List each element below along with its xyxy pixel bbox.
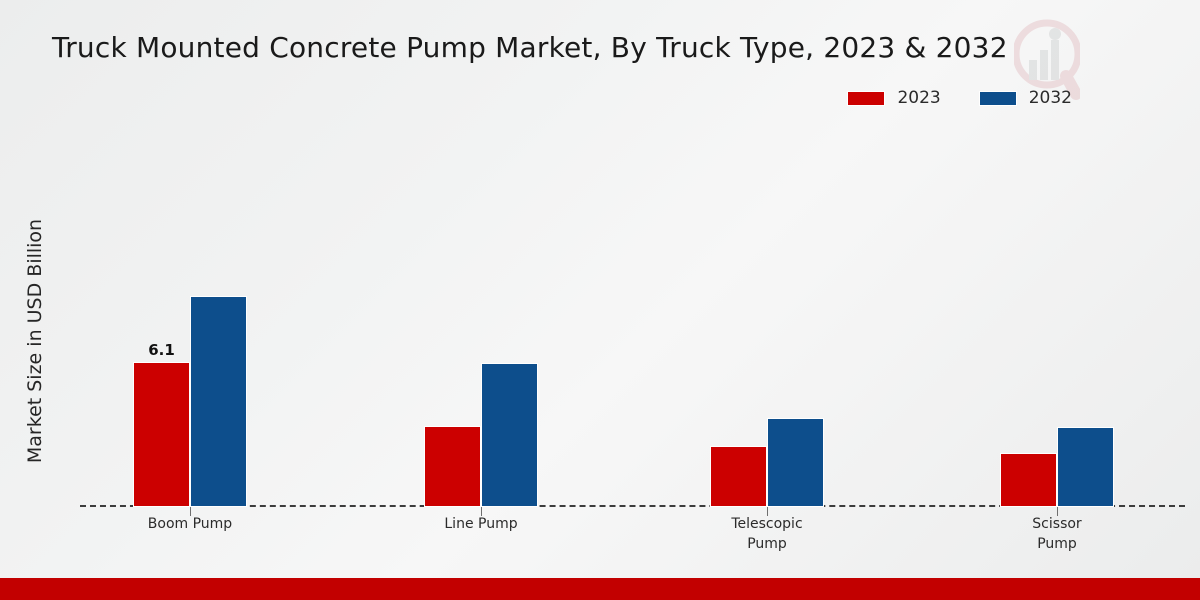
bar-group-telescopic-pump: Telescopic Pump bbox=[710, 140, 824, 507]
bar-2023-scissor-pump[interactable] bbox=[1000, 453, 1057, 507]
chart-legend: 2023 2032 bbox=[847, 88, 1072, 108]
legend-label-2032: 2032 bbox=[1029, 88, 1072, 108]
bar-2023-telescopic-pump[interactable] bbox=[710, 446, 767, 507]
bar-group-bars bbox=[710, 140, 824, 507]
legend-item-2032[interactable]: 2032 bbox=[979, 88, 1072, 108]
bar-group-boom-pump: 6.1 Boom Pump bbox=[133, 140, 247, 507]
bar-2032-scissor-pump[interactable] bbox=[1057, 427, 1114, 507]
bar-group-bars bbox=[1000, 140, 1114, 507]
x-axis-label-line: Scissor bbox=[962, 514, 1152, 534]
bar-2032-line-pump[interactable] bbox=[481, 363, 538, 507]
bar-2032-boom-pump[interactable] bbox=[190, 296, 247, 507]
page-title: Truck Mounted Concrete Pump Market, By T… bbox=[52, 31, 1008, 64]
bar-group-scissor-pump: Scissor Pump bbox=[1000, 140, 1114, 507]
x-axis-label-boom-pump: Boom Pump bbox=[95, 514, 285, 534]
x-axis-label-line: Telescopic bbox=[672, 514, 862, 534]
bar-group-bars bbox=[424, 140, 538, 507]
x-axis-label-line-pump: Line Pump bbox=[386, 514, 576, 534]
x-axis-label-line: Line Pump bbox=[386, 514, 576, 534]
footer-accent-bar bbox=[0, 578, 1200, 600]
y-axis-title: Market Size in USD Billion bbox=[24, 171, 46, 511]
plot-area: 6.1 Boom Pump Line Pump bbox=[80, 140, 1185, 507]
x-axis-label-scissor-pump: Scissor Pump bbox=[962, 514, 1152, 554]
x-axis-label-telescopic-pump: Telescopic Pump bbox=[672, 514, 862, 554]
bar-2023-line-pump[interactable] bbox=[424, 426, 481, 507]
legend-label-2023: 2023 bbox=[897, 88, 940, 108]
x-axis-label-line: Boom Pump bbox=[95, 514, 285, 534]
bar-group-line-pump: Line Pump bbox=[424, 140, 538, 507]
bar-group-bars bbox=[133, 140, 247, 507]
legend-swatch-2023 bbox=[847, 91, 885, 106]
x-axis-label-line: Pump bbox=[672, 534, 862, 554]
chart-container: Truck Mounted Concrete Pump Market, By T… bbox=[0, 0, 1200, 600]
bar-value-label: 6.1 bbox=[133, 341, 190, 359]
legend-swatch-2032 bbox=[979, 91, 1017, 106]
x-axis-label-line: Pump bbox=[962, 534, 1152, 554]
bar-2032-telescopic-pump[interactable] bbox=[767, 418, 824, 507]
legend-item-2023[interactable]: 2023 bbox=[847, 88, 940, 108]
bar-2023-boom-pump[interactable] bbox=[133, 362, 190, 507]
